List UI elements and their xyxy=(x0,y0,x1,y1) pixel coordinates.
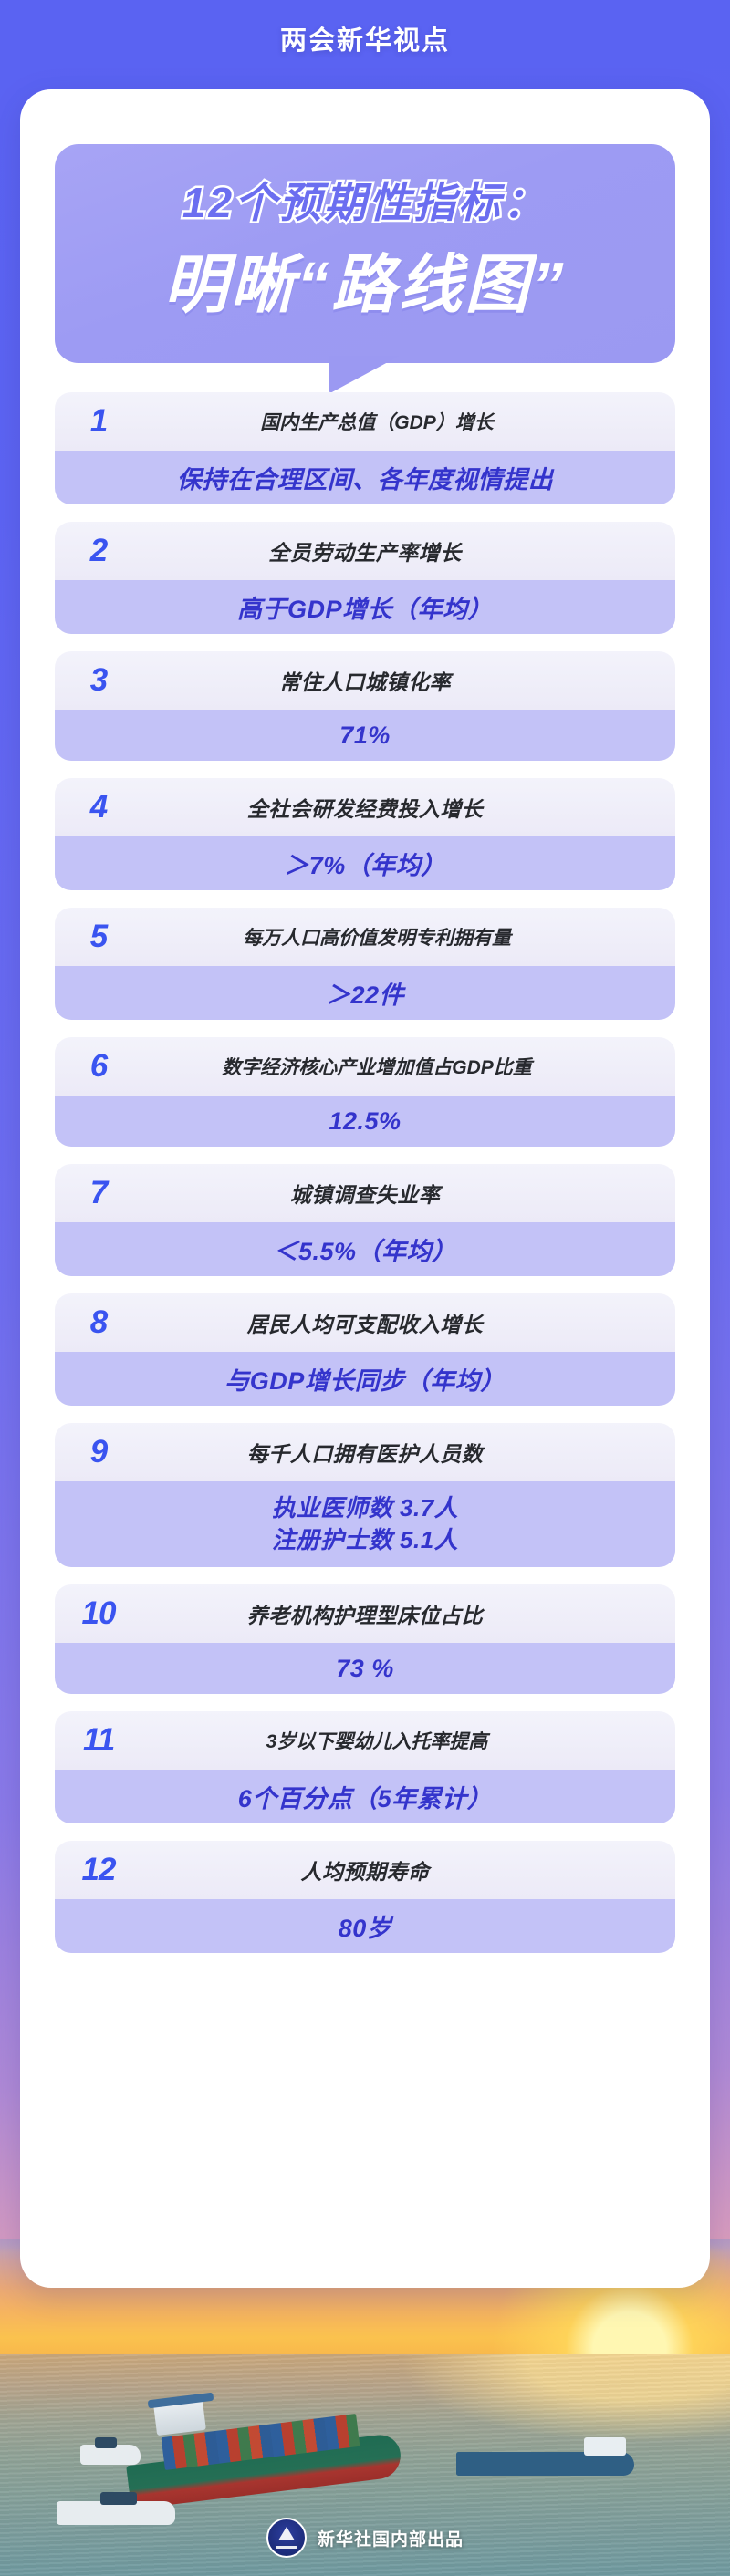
indicator-value: ＜5.5%（年均） xyxy=(55,1222,675,1276)
indicator-number: 9 xyxy=(55,1434,142,1470)
indicator-header: 8居民人均可支配收入增长 xyxy=(55,1293,675,1352)
hero-balloon-tail xyxy=(328,356,400,394)
indicator-value: 71% xyxy=(55,710,675,761)
indicator-list: 1国内生产总值（GDP）增长保持在合理区间、各年度视情提出2全员劳动生产率增长高… xyxy=(55,392,675,1970)
indicator-value: 12.5% xyxy=(55,1096,675,1147)
indicator-header: 5每万人口高价值发明专利拥有量 xyxy=(55,908,675,966)
footer-credit: 新华社国内部出品 xyxy=(318,2526,464,2550)
indicator-header: 1国内生产总值（GDP）增长 xyxy=(55,392,675,451)
indicator-header: 2全员劳动生产率增长 xyxy=(55,522,675,580)
indicator-header: 113岁以下婴幼儿入托率提高 xyxy=(55,1711,675,1770)
indicator-value-line: 注册护士数 5.1人 xyxy=(272,1524,458,1556)
indicator-number: 5 xyxy=(55,919,142,955)
indicator-header: 7城镇调查失业率 xyxy=(55,1164,675,1222)
xinhua-logo-icon xyxy=(266,2518,307,2558)
indicator-header: 12人均预期寿命 xyxy=(55,1841,675,1899)
indicator-row: 4全社会研发经费投入增长＞7%（年均） xyxy=(55,778,675,890)
indicator-label: 人均预期寿命 xyxy=(142,1854,675,1885)
indicator-header: 6数字经济核心产业增加值占GDP比重 xyxy=(55,1037,675,1096)
indicator-label: 养老机构护理型床位占比 xyxy=(142,1598,675,1629)
indicator-label: 数字经济核心产业增加值占GDP比重 xyxy=(142,1053,675,1080)
indicator-row: 3常住人口城镇化率71% xyxy=(55,651,675,761)
masthead-title: 两会新华视点 xyxy=(280,19,450,57)
hero-headline: 12个预期性指标： 明晰“路线图” xyxy=(55,144,675,363)
barge-right-cabin xyxy=(584,2437,626,2456)
indicator-number: 2 xyxy=(55,533,142,569)
indicator-header: 10养老机构护理型床位占比 xyxy=(55,1584,675,1643)
indicator-value: 与GDP增长同步（年均） xyxy=(55,1352,675,1406)
indicator-header: 3常住人口城镇化率 xyxy=(55,651,675,710)
indicator-header: 9每千人口拥有医护人员数 xyxy=(55,1423,675,1481)
masthead: 两会新华视点 xyxy=(0,0,730,77)
indicator-value: ＞22件 xyxy=(55,966,675,1020)
container-ship xyxy=(128,2394,401,2504)
indicator-row: 9每千人口拥有医护人员数执业医师数 3.7人注册护士数 5.1人 xyxy=(55,1423,675,1567)
indicator-value: 执业医师数 3.7人注册护士数 5.1人 xyxy=(55,1481,675,1567)
indicator-row: 2全员劳动生产率增长高于GDP增长（年均） xyxy=(55,522,675,634)
indicator-number: 6 xyxy=(55,1048,142,1085)
indicator-value: ＞7%（年均） xyxy=(55,836,675,890)
indicator-number: 4 xyxy=(55,789,142,826)
indicator-value: 高于GDP增长（年均） xyxy=(55,580,675,634)
indicator-label: 每万人口高价值发明专利拥有量 xyxy=(142,923,675,950)
tugboat-bottom-cabin xyxy=(100,2492,137,2505)
indicator-number: 7 xyxy=(55,1175,142,1211)
indicator-value: 6个百分点（5年累计） xyxy=(55,1770,675,1823)
indicator-label: 常住人口城镇化率 xyxy=(142,665,675,696)
footer: 新华社国内部出品 xyxy=(0,2510,730,2565)
indicator-row: 113岁以下婴幼儿入托率提高6个百分点（5年累计） xyxy=(55,1711,675,1823)
indicator-number: 11 xyxy=(55,1722,142,1759)
tugboat-left-cabin xyxy=(95,2437,117,2448)
indicator-label: 城镇调查失业率 xyxy=(142,1178,675,1209)
indicator-label: 全社会研发经费投入增长 xyxy=(142,792,675,823)
indicator-label: 全员劳动生产率增长 xyxy=(142,535,675,566)
hero-line-1: 12个预期性指标： xyxy=(55,170,675,230)
indicator-label: 3岁以下婴幼儿入托率提高 xyxy=(142,1727,675,1754)
indicator-number: 3 xyxy=(55,662,142,699)
indicator-number: 1 xyxy=(55,403,142,440)
indicator-label: 每千人口拥有医护人员数 xyxy=(142,1437,675,1468)
indicator-row: 6数字经济核心产业增加值占GDP比重12.5% xyxy=(55,1037,675,1147)
indicator-value: 73 % xyxy=(55,1643,675,1694)
indicator-row: 7城镇调查失业率＜5.5%（年均） xyxy=(55,1164,675,1276)
indicator-label: 居民人均可支配收入增长 xyxy=(142,1307,675,1338)
indicator-number: 10 xyxy=(55,1595,142,1632)
indicator-label: 国内生产总值（GDP）增长 xyxy=(142,408,675,435)
indicator-row: 12人均预期寿命80岁 xyxy=(55,1841,675,1953)
indicator-row: 5每万人口高价值发明专利拥有量＞22件 xyxy=(55,908,675,1020)
hero-line-2: 明晰“路线图” xyxy=(55,234,675,326)
indicator-row: 8居民人均可支配收入增长与GDP增长同步（年均） xyxy=(55,1293,675,1406)
indicator-row: 10养老机构护理型床位占比73 % xyxy=(55,1584,675,1694)
indicator-header: 4全社会研发经费投入增长 xyxy=(55,778,675,836)
indicator-value: 保持在合理区间、各年度视情提出 xyxy=(55,451,675,504)
indicator-value: 80岁 xyxy=(55,1899,675,1953)
indicator-number: 8 xyxy=(55,1304,142,1341)
indicator-row: 1国内生产总值（GDP）增长保持在合理区间、各年度视情提出 xyxy=(55,392,675,504)
indicator-value-line: 执业医师数 3.7人 xyxy=(272,1492,458,1524)
indicator-number: 12 xyxy=(55,1852,142,1888)
